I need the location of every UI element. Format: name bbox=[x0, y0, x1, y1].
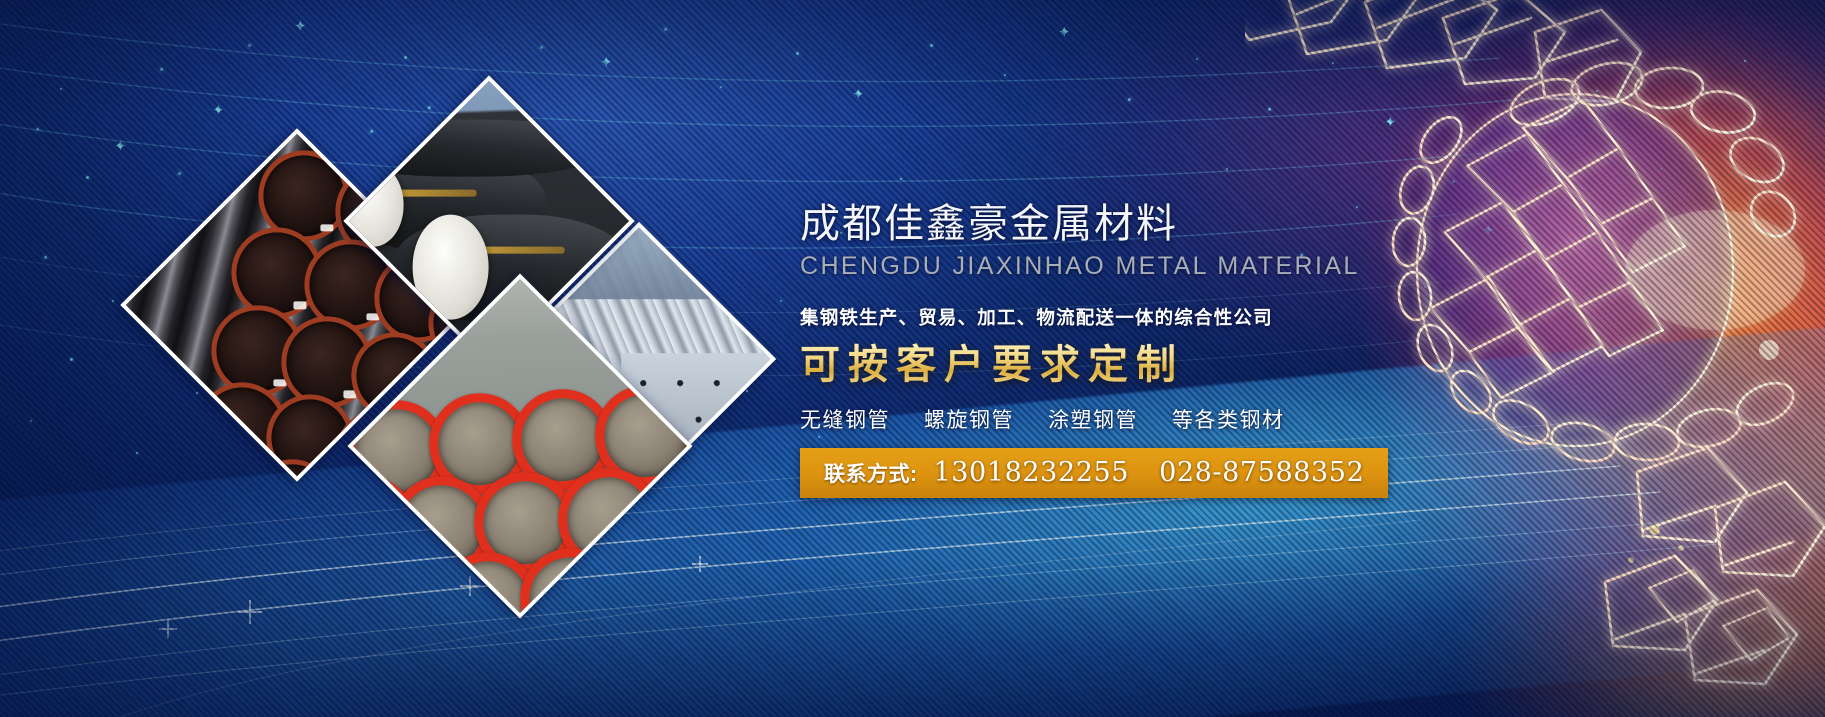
custom-order-headline: 可按客户要求定制 bbox=[800, 340, 1420, 390]
product-item-coated[interactable]: 涂塑钢管 bbox=[1048, 404, 1138, 434]
contact-phone-mobile[interactable]: 13018232255 bbox=[934, 457, 1130, 488]
company-name-chinese: 成都佳鑫豪金属材料 bbox=[800, 200, 1420, 249]
product-item-seamless[interactable]: 无缝钢管 bbox=[800, 404, 890, 434]
contact-label: 联系方式: bbox=[824, 458, 918, 488]
company-name-english: CHENGDU JIAXINHAO METAL MATERIAL bbox=[800, 253, 1420, 281]
promotional-banner: 成都佳鑫豪金属材料 CHENGDU JIAXINHAO METAL MATERI… bbox=[0, 0, 1825, 717]
product-item-other[interactable]: 等各类钢材 bbox=[1172, 404, 1285, 434]
contact-phone-landline[interactable]: 028-87588352 bbox=[1159, 457, 1364, 488]
product-item-spiral[interactable]: 螺旋钢管 bbox=[924, 404, 1014, 434]
company-tagline: 集钢铁生产、贸易、加工、物流配送一体的综合性公司 bbox=[800, 304, 1420, 330]
product-category-list: 无缝钢管 螺旋钢管 涂塑钢管 等各类钢材 bbox=[800, 404, 1420, 434]
headline-text-block: 成都佳鑫豪金属材料 CHENGDU JIAXINHAO METAL MATERI… bbox=[800, 200, 1420, 498]
contact-info-bar[interactable]: 联系方式: 13018232255 028-87588352 bbox=[800, 448, 1388, 498]
